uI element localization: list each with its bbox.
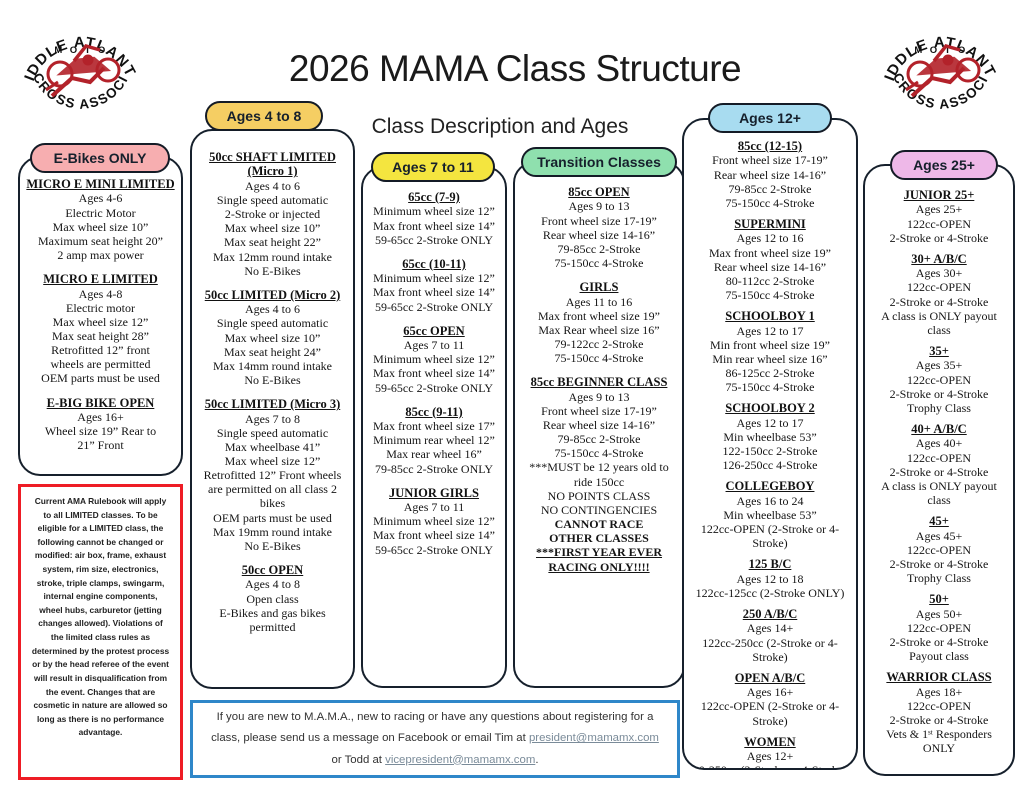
class-detail-line: Ages 12 to 17	[690, 416, 850, 430]
class-detail-line: Max front wheel size 19”	[690, 246, 850, 260]
class-detail-line: Ages 16+	[690, 685, 850, 699]
class-detail-line: Front wheel size 17-19”	[521, 214, 677, 228]
class-detail-line: Min wheelbase 53”	[690, 508, 850, 522]
class-detail-line: Max wheel size 12”	[26, 315, 175, 329]
class-detail-line: Ages 7 to 11	[369, 500, 499, 514]
class-detail-line: Max seat height 24”	[198, 345, 347, 359]
class-detail-line: 80-250cc (2-Stroke or 4-Stroke)	[690, 763, 850, 770]
badge-ages12plus[interactable]: Ages 12+	[708, 103, 832, 133]
class-detail-line: Min front wheel size 19”	[690, 338, 850, 352]
class-detail-line: 122cc-OPEN	[871, 451, 1007, 465]
class-title: SCHOOLBOY 1	[690, 309, 850, 323]
class-title: 65cc (7-9)	[369, 190, 499, 204]
class-detail-line: Ages 14+	[690, 621, 850, 635]
class-detail-line: No E-Bikes	[198, 264, 347, 278]
class-detail-line: 122cc-OPEN (2-Stroke or 4-Stroke)	[690, 522, 850, 550]
class-detail-line: Trophy Class	[871, 571, 1007, 585]
class-title: 50cc LIMITED (Micro 2)	[198, 288, 347, 302]
class-detail-line: 2-Stroke or 4-Stroke	[871, 231, 1007, 245]
class-detail-line: 2-Stroke or 4-Stroke	[871, 465, 1007, 479]
class-entry: 250 A/B/CAges 14+122cc-250cc (2-Stroke o…	[690, 607, 850, 664]
class-detail-line: Rear wheel size 14-16”	[521, 228, 677, 242]
class-detail-line: Ages 16+	[26, 410, 175, 424]
class-detail-line: 2-Stroke or 4-Stroke	[871, 635, 1007, 649]
class-entry: 45+Ages 45+122cc-OPEN2-Stroke or 4-Strok…	[871, 514, 1007, 585]
class-detail-line: Ages 4-6	[26, 191, 175, 205]
class-title: WOMEN	[690, 735, 850, 749]
class-detail-line: 122cc-125cc (2-Stroke ONLY)	[690, 586, 850, 600]
class-detail-line: Electric motor	[26, 301, 175, 315]
class-title: 250 A/B/C	[690, 607, 850, 621]
ama-rulebook-text: Current AMA Rulebook will apply to all L…	[31, 495, 170, 740]
class-detail-line-bold: OTHER CLASSES	[521, 531, 677, 545]
mama-logo-right: MIDDLE ATLANTIC MOTOCROSS ASSOCIATION M …	[876, 8, 1006, 138]
class-detail-line: Wheel size 19” Rear to	[26, 424, 175, 438]
class-entry: MICRO E LIMITEDAges 4-8Electric motorMax…	[26, 272, 175, 385]
class-detail-line-bold: CANNOT RACE	[521, 517, 677, 531]
class-entry: 50cc LIMITED (Micro 2)Ages 4 to 6Single …	[198, 288, 347, 387]
class-detail-line: 122cc-OPEN	[871, 543, 1007, 557]
class-title: 35+	[871, 344, 1007, 358]
class-entry: SCHOOLBOY 1Ages 12 to 17Min front wheel …	[690, 309, 850, 394]
class-detail-line: Max 19mm round intake	[198, 525, 347, 539]
class-detail-line: Ages 4 to 8	[198, 577, 347, 591]
class-detail-line: A class is ONLY payout class	[871, 309, 1007, 337]
class-title: 125 B/C	[690, 557, 850, 571]
class-detail-line: Max seat height 22”	[198, 235, 347, 249]
class-detail-line: 75-150cc 4-Stroke	[690, 196, 850, 210]
class-detail-line: Ages 7 to 11	[369, 338, 499, 352]
class-detail-line: 75-150cc 4-Stroke	[521, 351, 677, 365]
class-entry: MICRO E MINI LIMITEDAges 4-6Electric Mot…	[26, 177, 175, 262]
class-detail-line: No E-Bikes	[198, 539, 347, 553]
class-detail-line: Minimum wheel size 12”	[369, 352, 499, 366]
class-detail-line: Ages 12+	[690, 749, 850, 763]
badge-ages7to11[interactable]: Ages 7 to 11	[371, 152, 495, 182]
class-detail-line: Max 14mm round intake	[198, 359, 347, 373]
vicepresident-email-link[interactable]: vicepresident@mamamx.com	[385, 754, 535, 766]
class-detail-line: Payout class	[871, 649, 1007, 663]
class-detail-line: 75-150cc 4-Stroke	[521, 256, 677, 270]
class-detail-line: Ages 45+	[871, 529, 1007, 543]
class-entry: 30+ A/B/CAges 30+122cc-OPEN2-Stroke or 4…	[871, 252, 1007, 337]
class-detail-line: 75-150cc 4-Stroke	[521, 446, 677, 460]
class-detail-line: 80-112cc 2-Stroke	[690, 274, 850, 288]
class-detail-line: 79-85cc 2-Stroke	[521, 432, 677, 446]
class-detail-line: Ages 50+	[871, 607, 1007, 621]
class-detail-line: Max Rear wheel size 16”	[521, 323, 677, 337]
class-detail-line: Open class	[198, 592, 347, 606]
class-entry: 85cc OPENAges 9 to 13Front wheel size 17…	[521, 185, 677, 270]
class-detail-line: Max wheelbase 41”	[198, 440, 347, 454]
column-ages25plus: JUNIOR 25+Ages 25+122cc-OPEN2-Stroke or …	[863, 164, 1015, 776]
class-detail-line: Ages 4-8	[26, 287, 175, 301]
class-detail-line: Maximum seat height 20”	[26, 234, 175, 248]
class-title: JUNIOR GIRLS	[369, 486, 499, 500]
class-detail-line: Ages 12 to 17	[690, 324, 850, 338]
class-detail-line: OEM parts must be used	[198, 511, 347, 525]
class-detail-line: Max front wheel size 17”	[369, 419, 499, 433]
class-title: SCHOOLBOY 2	[690, 401, 850, 415]
class-title: 85cc (9-11)	[369, 405, 499, 419]
class-detail-line: Retrofitted 12” front	[26, 343, 175, 357]
class-detail-line: Max front wheel size 14”	[369, 219, 499, 233]
class-detail-line: Max front wheel size 14”	[369, 528, 499, 542]
class-title: OPEN A/B/C	[690, 671, 850, 685]
class-detail-line-emphasis: ***FIRST YEAR EVER	[521, 545, 677, 559]
class-detail-line: Ages 25+	[871, 202, 1007, 216]
class-detail-line: Ages 9 to 13	[521, 199, 677, 213]
class-detail-line: Max wheel size 10”	[198, 221, 347, 235]
class-entry: 85cc (12-15)Front wheel size 17-19”Rear …	[690, 139, 850, 210]
class-entry: JUNIOR GIRLSAges 7 to 11Minimum wheel si…	[369, 486, 499, 557]
class-detail-line: Electric Motor	[26, 206, 175, 220]
class-title: 85cc (12-15)	[690, 139, 850, 153]
class-detail-line: No E-Bikes	[198, 373, 347, 387]
class-detail-line: 122cc-OPEN	[871, 280, 1007, 294]
class-entry: 65cc (10-11)Minimum wheel size 12”Max fr…	[369, 257, 499, 314]
class-detail-line: 75-150cc 4-Stroke	[690, 380, 850, 394]
class-title: 50cc SHAFT LIMITED (Micro 1)	[198, 150, 347, 179]
class-title: E-BIG BIKE OPEN	[26, 396, 175, 410]
class-title: MICRO E LIMITED	[26, 272, 175, 286]
column-transition: 85cc OPENAges 9 to 13Front wheel size 17…	[513, 161, 685, 688]
class-detail-line: Ages 12 to 18	[690, 572, 850, 586]
class-entry: 85cc (9-11)Max front wheel size 17”Minim…	[369, 405, 499, 476]
column-ages4to8: 50cc SHAFT LIMITED (Micro 1)Ages 4 to 6S…	[190, 129, 355, 689]
class-detail-line: Ages 30+	[871, 266, 1007, 280]
class-detail-line: 59-65cc 2-Stroke ONLY	[369, 300, 499, 314]
class-detail-line-emphasis: RACING ONLY!!!!	[521, 560, 677, 574]
class-detail-line: Rear wheel size 14-16”	[690, 260, 850, 274]
class-detail-line: A class is ONLY payout class	[871, 479, 1007, 507]
ama-rulebook-notice: Current AMA Rulebook will apply to all L…	[18, 484, 183, 780]
class-entry: E-BIG BIKE OPENAges 16+Wheel size 19” Re…	[26, 396, 175, 453]
class-detail-line: Max rear wheel 16”	[369, 447, 499, 461]
class-title: JUNIOR 25+	[871, 188, 1007, 202]
class-entry: 85cc BEGINNER CLASSAges 9 to 13Front whe…	[521, 375, 677, 573]
class-detail-line: 2-Stroke or injected	[198, 207, 347, 221]
page-title: 2026 MAMA Class Structure	[230, 48, 800, 90]
class-entry: SUPERMINIAges 12 to 16Max front wheel si…	[690, 217, 850, 302]
class-detail-line: Ages 40+	[871, 436, 1007, 450]
class-detail-line: Max 12mm round intake	[198, 250, 347, 264]
president-email-link[interactable]: president@mamamx.com	[529, 732, 659, 744]
class-detail-line: 79-85cc 2-Stroke	[690, 182, 850, 196]
class-detail-line: 79-122cc 2-Stroke	[521, 337, 677, 351]
class-entry: 125 B/CAges 12 to 18122cc-125cc (2-Strok…	[690, 557, 850, 600]
class-detail-line: 79-85cc 2-Stroke	[521, 242, 677, 256]
class-detail-line: Ages 12 to 16	[690, 231, 850, 245]
class-title: 40+ A/B/C	[871, 422, 1007, 436]
class-detail-line: Ages 9 to 13	[521, 390, 677, 404]
class-detail-line: OEM parts must be used	[26, 371, 175, 385]
class-detail-line: 122cc-250cc (2-Stroke or 4-Stroke)	[690, 636, 850, 664]
class-detail-line: Minimum wheel size 12”	[369, 204, 499, 218]
column-ebikes: MICRO E MINI LIMITEDAges 4-6Electric Mot…	[18, 156, 183, 476]
badge-ebikes[interactable]: E-Bikes ONLY	[30, 143, 170, 173]
column-ages12plus: 85cc (12-15)Front wheel size 17-19”Rear …	[682, 118, 858, 770]
class-title: 65cc OPEN	[369, 324, 499, 338]
class-detail-line: 59-65cc 2-Stroke ONLY	[369, 381, 499, 395]
class-detail-line: 122cc-OPEN (2-Stroke or 4-Stroke)	[690, 699, 850, 727]
class-detail-line: 2-Stroke or 4-Stroke	[871, 295, 1007, 309]
class-title: 30+ A/B/C	[871, 252, 1007, 266]
class-detail-line: wheels are permitted	[26, 357, 175, 371]
contact-footer: If you are new to M.A.M.A., new to racin…	[190, 700, 680, 778]
class-entry: 40+ A/B/CAges 40+122cc-OPEN2-Stroke or 4…	[871, 422, 1007, 507]
class-detail-line: 122cc-OPEN	[871, 217, 1007, 231]
class-detail-line: NO POINTS CLASS	[521, 489, 677, 503]
class-detail-line: Ages 7 to 8	[198, 412, 347, 426]
class-detail-line: Max seat height 28”	[26, 329, 175, 343]
class-title: 50cc OPEN	[198, 563, 347, 577]
class-detail-line: Single speed automatic	[198, 316, 347, 330]
class-detail-line: Ages 18+	[871, 685, 1007, 699]
class-detail-line: Ages 4 to 6	[198, 302, 347, 316]
class-detail-line: Max front wheel size 14”	[369, 285, 499, 299]
class-detail-line: Minimum rear wheel 12”	[369, 433, 499, 447]
class-detail-line: Max wheel size 10”	[26, 220, 175, 234]
class-detail-line: 59-65cc 2-Stroke ONLY	[369, 543, 499, 557]
class-entry: GIRLSAges 11 to 16Max front wheel size 1…	[521, 280, 677, 365]
class-detail-line: Front wheel size 17-19”	[521, 404, 677, 418]
class-detail-line: 86-125cc 2-Stroke	[690, 366, 850, 380]
class-detail-line: Ages 4 to 6	[198, 179, 347, 193]
class-detail-line: 59-65cc 2-Stroke ONLY	[369, 233, 499, 247]
contact-footer-text: If you are new to M.A.M.A., new to racin…	[193, 707, 677, 770]
class-detail-line: Max wheel size 10”	[198, 331, 347, 345]
class-title: 45+	[871, 514, 1007, 528]
footer-part3: .	[535, 754, 538, 766]
class-title: MICRO E MINI LIMITED	[26, 177, 175, 191]
class-entry: WARRIOR CLASSAges 18+122cc-OPEN2-Stroke …	[871, 670, 1007, 755]
class-entry: COLLEGEBOYAges 16 to 24Min wheelbase 53”…	[690, 479, 850, 550]
class-entry: 50+Ages 50+122cc-OPEN2-Stroke or 4-Strok…	[871, 592, 1007, 663]
class-title: WARRIOR CLASS	[871, 670, 1007, 684]
class-entry: 35+Ages 35+122cc-OPEN2-Stroke or 4-Strok…	[871, 344, 1007, 415]
footer-part2: or Todd at	[332, 754, 386, 766]
class-detail-line: 2 amp max power	[26, 248, 175, 262]
class-title: 65cc (10-11)	[369, 257, 499, 271]
class-detail-line: 126-250cc 4-Stroke	[690, 458, 850, 472]
class-detail-line: ***MUST be 12 years old to ride 150cc	[521, 460, 677, 488]
class-detail-line: 75-150cc 4-Stroke	[690, 288, 850, 302]
badge-ages4to8[interactable]: Ages 4 to 8	[205, 101, 323, 131]
class-detail-line: Front wheel size 17-19”	[690, 153, 850, 167]
class-detail-line: NO CONTINGENCIES	[521, 503, 677, 517]
badge-ages25plus[interactable]: Ages 25+	[890, 150, 998, 180]
class-entry: 65cc OPENAges 7 to 11Minimum wheel size …	[369, 324, 499, 395]
class-entry: 50cc OPENAges 4 to 8Open classE-Bikes an…	[198, 563, 347, 634]
class-entry: WOMENAges 12+80-250cc (2-Stroke or 4-Str…	[690, 735, 850, 770]
class-title: SUPERMINI	[690, 217, 850, 231]
class-detail-line: Rear wheel size 14-16”	[521, 418, 677, 432]
class-entry: 50cc LIMITED (Micro 3)Ages 7 to 8Single …	[198, 397, 347, 553]
class-detail-line: E-Bikes and gas bikes permitted	[198, 606, 347, 634]
badge-transition[interactable]: Transition Classes	[521, 147, 677, 177]
class-detail-line: Min wheelbase 53”	[690, 430, 850, 444]
class-entry: SCHOOLBOY 2Ages 12 to 17Min wheelbase 53…	[690, 401, 850, 472]
class-detail-line: Max front wheel size 14”	[369, 366, 499, 380]
class-title: 50+	[871, 592, 1007, 606]
class-title: GIRLS	[521, 280, 677, 294]
class-detail-line: Ages 35+	[871, 358, 1007, 372]
class-detail-line: Trophy Class	[871, 401, 1007, 415]
class-detail-line: Minimum wheel size 12”	[369, 514, 499, 528]
class-title: 50cc LIMITED (Micro 3)	[198, 397, 347, 411]
class-entry: 50cc SHAFT LIMITED (Micro 1)Ages 4 to 6S…	[198, 150, 347, 278]
class-detail-line: Max front wheel size 19”	[521, 309, 677, 323]
class-detail-line: Ages 11 to 16	[521, 295, 677, 309]
class-detail-line: Max wheel size 12”	[198, 454, 347, 468]
class-detail-line: 122cc-OPEN	[871, 699, 1007, 713]
class-detail-line: 122cc-OPEN	[871, 373, 1007, 387]
class-detail-line: 2-Stroke or 4-Stroke	[871, 557, 1007, 571]
class-title: 85cc OPEN	[521, 185, 677, 199]
class-detail-line: Ages 16 to 24	[690, 494, 850, 508]
class-detail-line: Single speed automatic	[198, 426, 347, 440]
class-title: COLLEGEBOY	[690, 479, 850, 493]
class-detail-line: Retrofitted 12” Front wheels are permitt…	[198, 468, 347, 510]
column-ages7to11: 65cc (7-9)Minimum wheel size 12”Max fron…	[361, 166, 507, 688]
class-detail-line: 2-Stroke or 4-Stroke	[871, 387, 1007, 401]
class-detail-line: 122cc-OPEN	[871, 621, 1007, 635]
class-detail-line: 122-150cc 2-Stroke	[690, 444, 850, 458]
mama-logo-left: MIDDLE ATLANTIC MOTOCROSS ASSOCIATION M …	[16, 8, 146, 138]
class-entry: OPEN A/B/CAges 16+122cc-OPEN (2-Stroke o…	[690, 671, 850, 728]
class-detail-line: Minimum wheel size 12”	[369, 271, 499, 285]
class-detail-line: Rear wheel size 14-16”	[690, 168, 850, 182]
class-title: 85cc BEGINNER CLASS	[521, 375, 677, 389]
class-detail-line: 21” Front	[26, 438, 175, 452]
class-detail-line: 2-Stroke or 4-Stroke	[871, 713, 1007, 727]
page-subtitle: Class Description and Ages	[290, 115, 710, 139]
class-entry: JUNIOR 25+Ages 25+122cc-OPEN2-Stroke or …	[871, 188, 1007, 245]
class-entry: 65cc (7-9)Minimum wheel size 12”Max fron…	[369, 190, 499, 247]
class-detail-line: Single speed automatic	[198, 193, 347, 207]
class-detail-line: 79-85cc 2-Stroke ONLY	[369, 462, 499, 476]
class-detail-line: Min rear wheel size 16”	[690, 352, 850, 366]
class-detail-line: Vets & 1ˢᵗ Responders ONLY	[871, 727, 1007, 755]
